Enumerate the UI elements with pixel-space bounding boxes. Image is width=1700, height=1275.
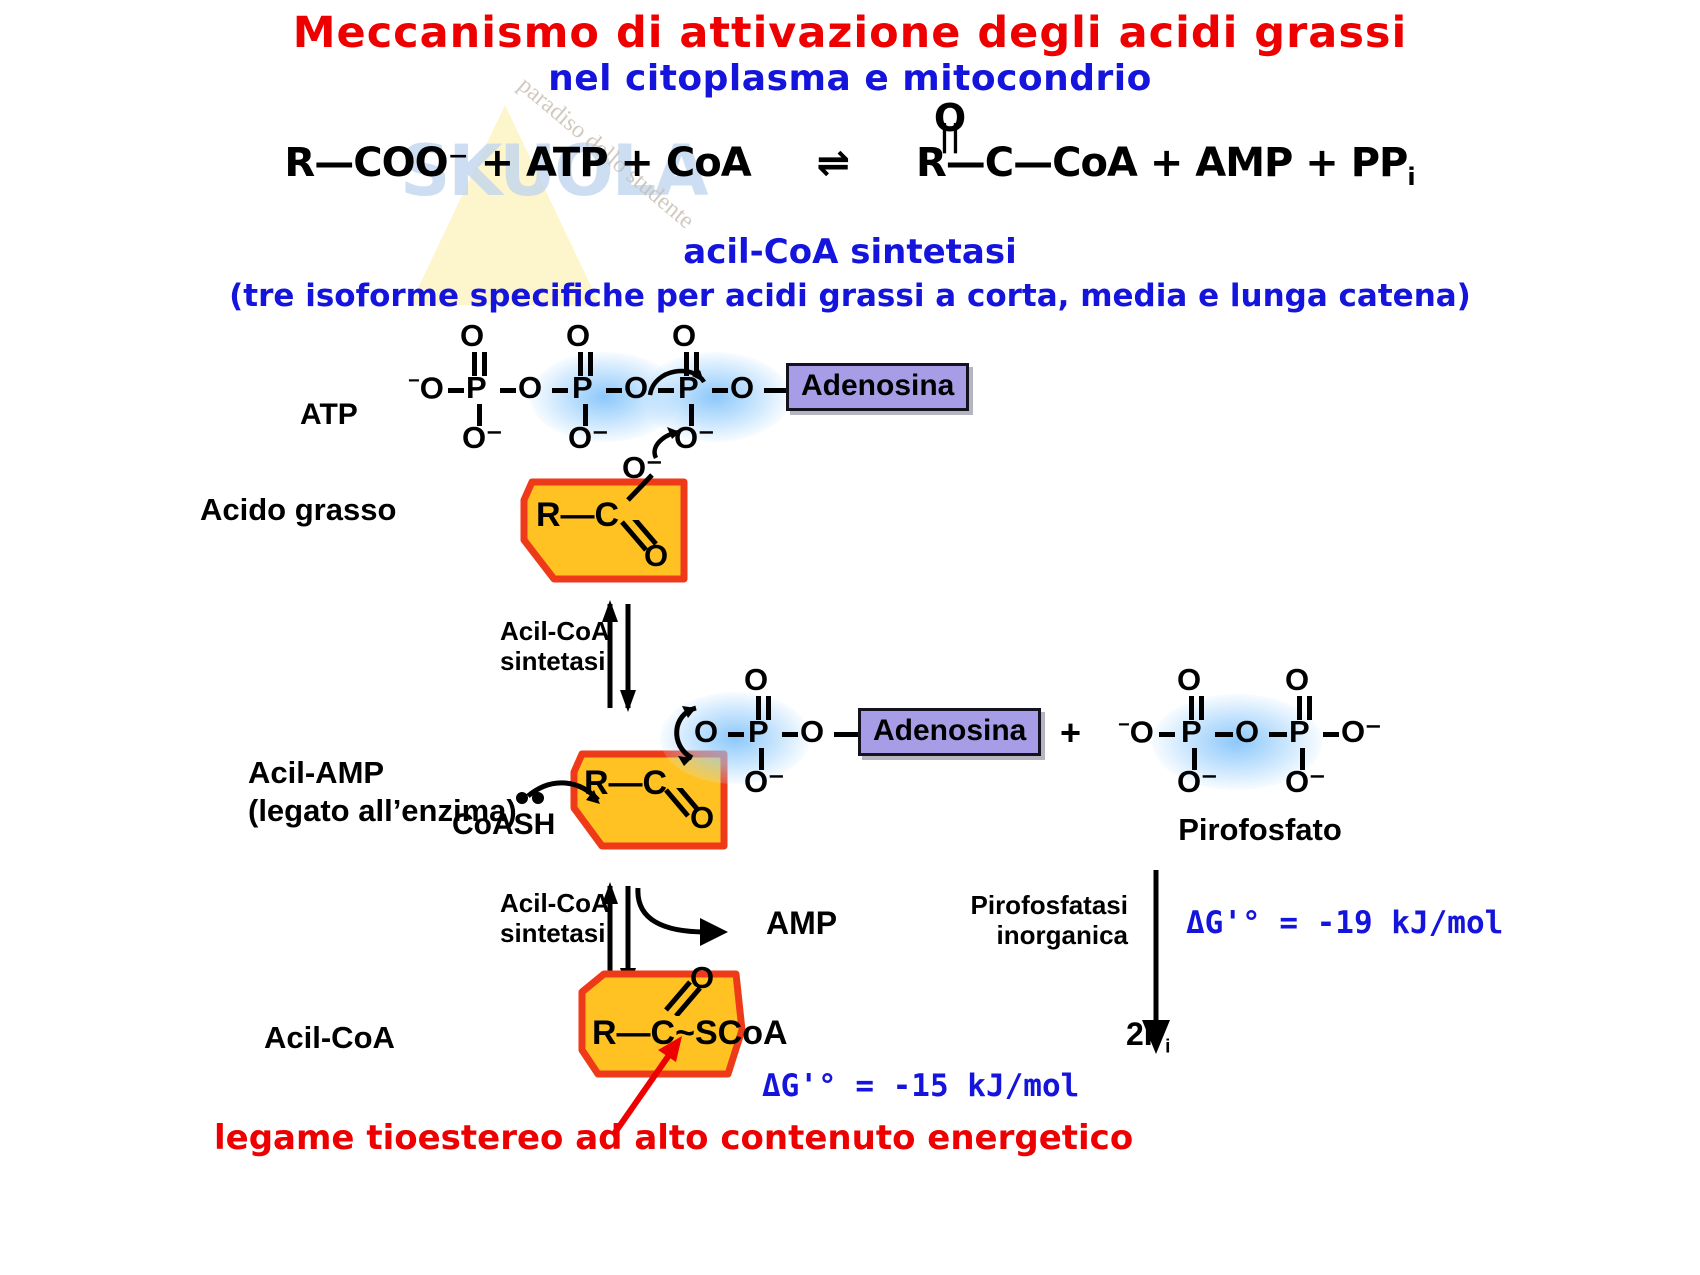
adenosina-box-amp: Adenosina [858,708,1041,756]
isoforms-note: (tre isoforme specifiche per acidi grass… [0,278,1700,314]
amp-bond-o-p [728,732,744,737]
fatty-acid-label: Acido grasso [200,492,396,528]
ppi-terminal-o-minus-right: O⁻ [1341,714,1381,750]
ppi-bond-o-p1 [1159,732,1175,737]
amp-o-minus: O⁻ [744,764,784,800]
atp-bond-o-adenosina [764,388,786,393]
page-title: Meccanismo di attivazione degli acidi gr… [0,8,1700,58]
ppi-bond-o-p2 [1269,732,1287,737]
ppi-p-1: P [1181,714,1202,750]
acil-coa-label: Acil-CoA [264,1020,395,1056]
ppi-bond-p1-o [1215,732,1233,737]
acil-coa-carbonyl-o: O [690,960,714,996]
amp-bond-p-o [782,732,798,737]
atp-o-minus-alpha: O⁻ [462,420,502,456]
plus-sign: + [1060,712,1081,754]
enzyme-label-step1-line2: sintetasi [500,646,610,676]
amp-release-arrow [630,884,760,954]
equation-right-side: R—C—CoA + AMP + PP [916,140,1407,186]
enzyme-label-step1-line1: Acil-CoA [500,616,610,646]
equation-left-side: R—COO⁻ + ATP + CoA [284,140,750,186]
two-pi-text: 2P [1126,1016,1165,1052]
pirofosfato-label: Pirofosfato [1100,812,1420,848]
enzyme-label-step2-line1: Acil-CoA [500,888,610,918]
enzyme-name: acil-CoA sintetasi [0,232,1700,272]
adenosina-box-atp: Adenosina [786,363,969,411]
pirofosfatasi-line1: Pirofosfatasi [968,890,1128,920]
ppi-bond-p2-o [1323,732,1339,737]
acil-amp-label-line1: Acil-AMP [248,754,517,792]
pirofosfatasi-label: Pirofosfatasi inorganica [968,890,1128,950]
equilibrium-arrow: ⇌ [817,140,851,186]
overall-reaction-equation: R—COO⁻ + ATP + CoA ⇌ R—C—CoA + AMP + PPi [0,140,1700,191]
fatty-acid-bond-up [626,472,656,502]
dg-thioester: ΔG'° = -15 kJ/mol [762,1068,1079,1104]
two-pi-label: 2Pi [1126,1016,1170,1058]
enzyme-label-step1: Acil-CoA sintetasi [500,616,610,676]
atp-label: ATP [300,398,358,432]
ppi-o-minus-2: O⁻ [1285,764,1325,800]
atp-bond-o-p1 [448,388,464,393]
atp-o-minus-beta: O⁻ [568,420,608,456]
atp-terminal-o-minus: −O [408,370,444,406]
fatty-acid-rc: R—C [536,496,619,535]
acyl-oxygen-attack-arrow [662,700,722,770]
amp-bridge-o: O [800,714,824,750]
amp-o-top: O [744,662,768,698]
ppi-p-2: P [1289,714,1310,750]
amp-bond-o-adenosina [834,732,858,737]
enzyme-label-step2: Acil-CoA sintetasi [500,888,610,948]
equation-ppi-subscript: i [1407,163,1415,191]
amp-phosphorus: P [748,714,769,750]
two-pi-subscript: i [1165,1036,1170,1057]
amp-product-label: AMP [766,905,837,942]
enzyme-label-step2-line2: sintetasi [500,918,610,948]
ppi-terminal-o-minus-left: −O [1118,714,1154,750]
ppi-o-minus-1: O⁻ [1177,764,1217,800]
dg-pyrophosphatase: ΔG'° = -19 kJ/mol [1186,905,1503,941]
atp-bridge-o-1: O [518,370,542,406]
acil-amp-carbonyl-o: O [690,800,714,836]
atp-o-top-alpha: O [460,318,484,354]
ppi-o-top-1: O [1177,662,1201,698]
atp-p-alpha: P [466,370,487,406]
pirofosfatasi-line2: inorganica [968,920,1128,950]
fatty-acid-carbonyl-o: O [644,538,668,574]
page-subtitle: nel citoplasma e mitocondrio [0,58,1700,99]
atp-o-top-beta: O [566,318,590,354]
bottom-note: legame tioestereo ad alto contenuto ener… [214,1118,1133,1158]
atp-bond-p1-o [500,388,516,393]
ppi-bridge-o: O [1235,714,1259,750]
atp-p-beta: P [572,370,593,406]
ppi-o-top-2: O [1285,662,1309,698]
coash-attack-arrow [512,760,662,830]
atp-bond-o-p2 [552,388,568,393]
atp-bond-p2-o [606,388,622,393]
